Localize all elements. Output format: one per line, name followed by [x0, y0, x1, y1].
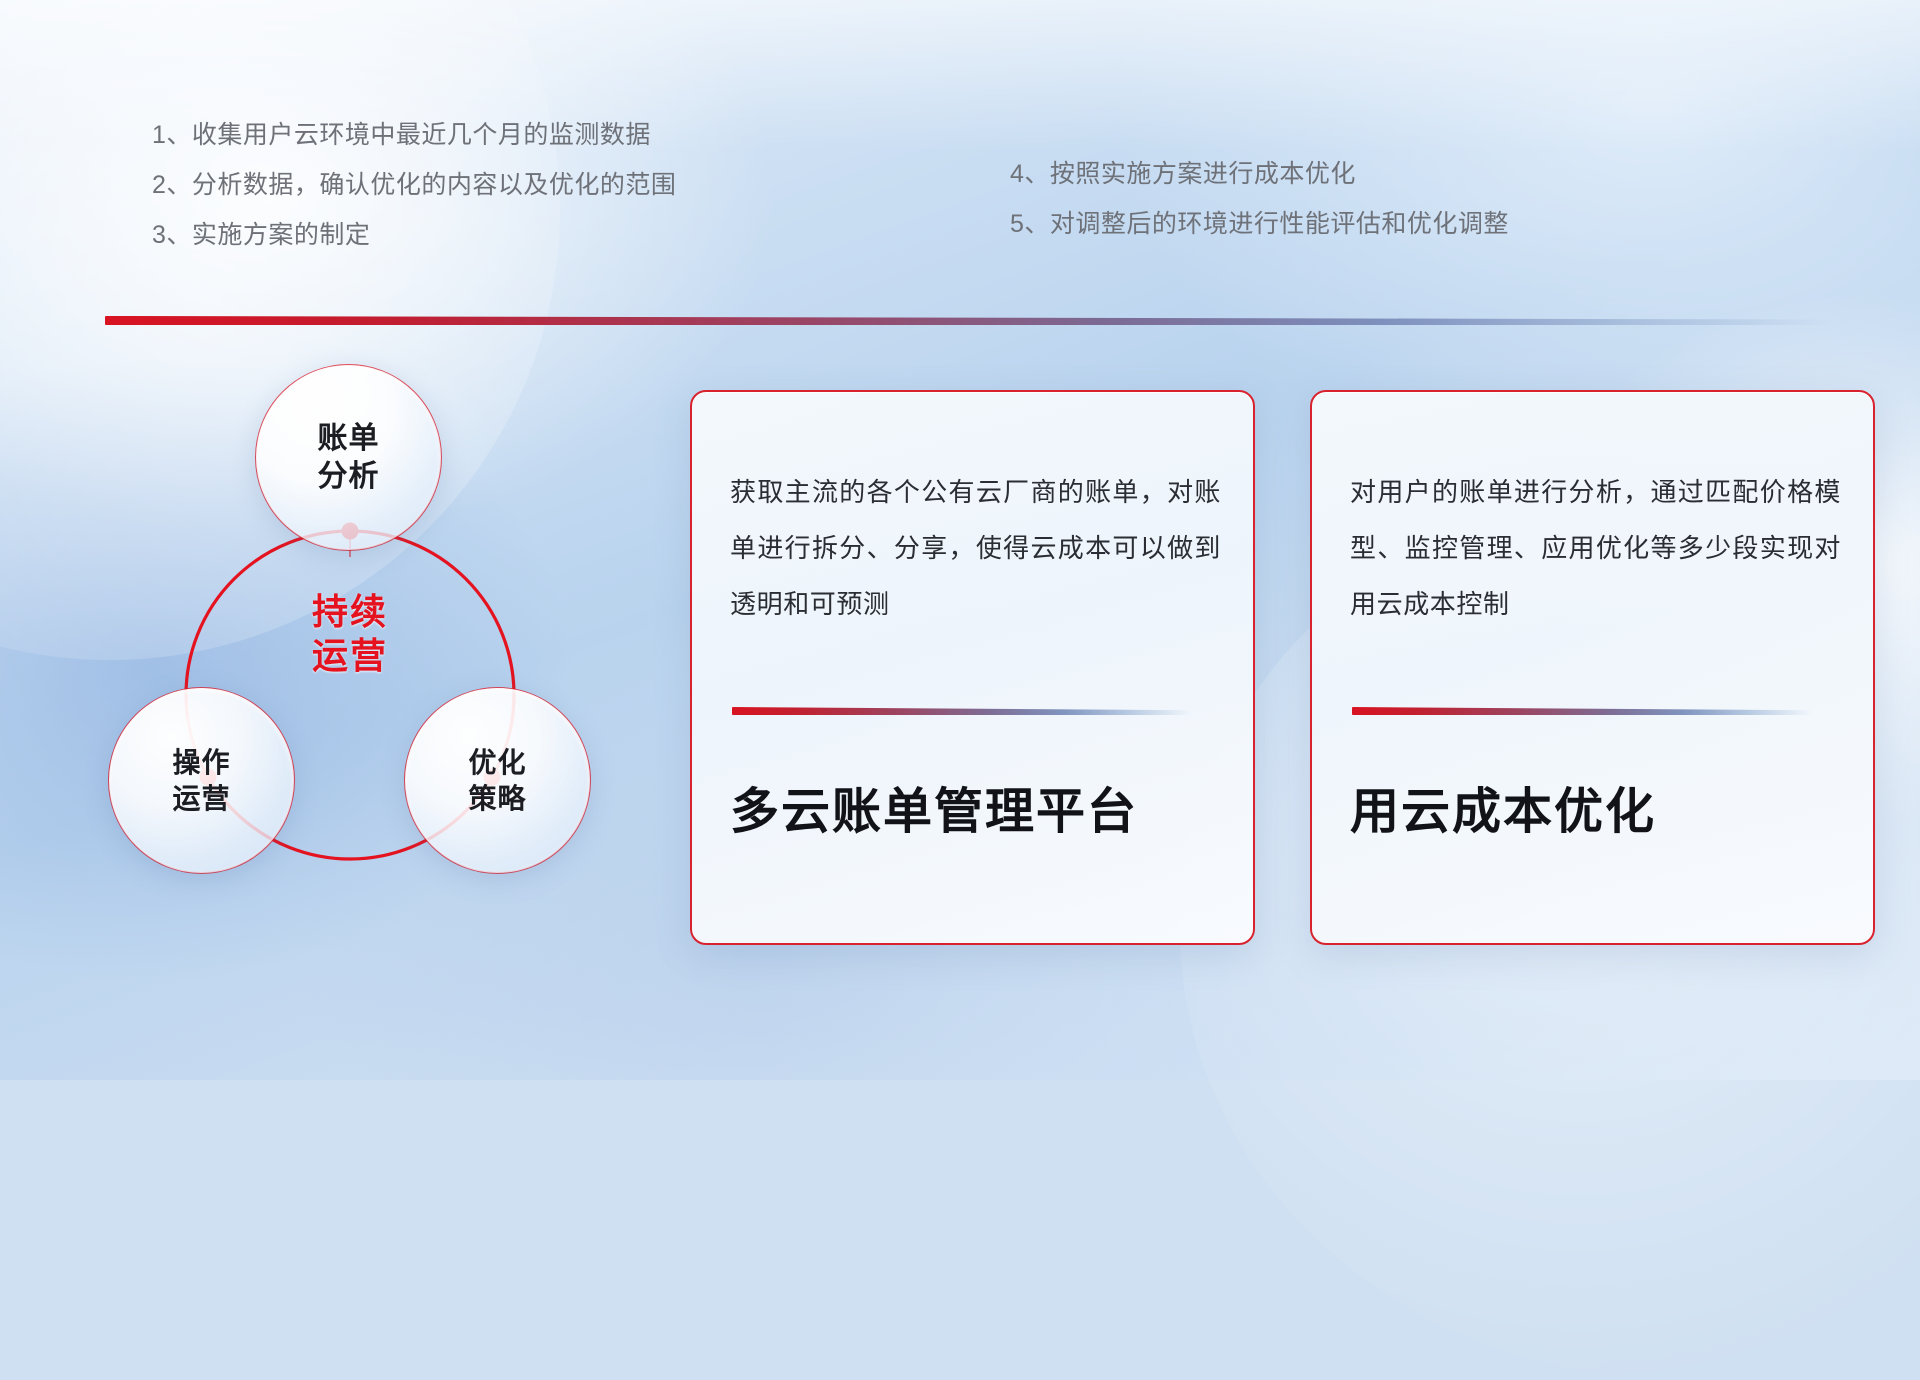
step-item: 2、分析数据，确认优化的内容以及优化的范围	[152, 173, 676, 198]
step-item: 4、按照实施方案进行成本优化	[1010, 162, 1509, 187]
header-divider-rule	[105, 316, 1830, 325]
step-item: 1、收集用户云环境中最近几个月的监测数据	[152, 123, 676, 148]
venn-bubble-operations[interactable]: 操作 运营	[109, 688, 294, 873]
card-divider-rule	[1352, 707, 1812, 715]
venn-bubble-label-line1: 账单	[318, 422, 380, 455]
venn-bubble-label: 优化 策略	[468, 745, 526, 816]
venn-diagram: 账单 分析 操作 运营 优化 策略 持续 运营	[95, 355, 635, 955]
venn-bubble-label: 操作 运营	[172, 745, 230, 816]
venn-center-label-line1: 持续	[270, 590, 430, 634]
card-body-text: 获取主流的各个公有云厂商的账单，对账单进行拆分、分享，使得云成本可以做到透明和可…	[730, 464, 1221, 632]
venn-bubble-label-line2: 运营	[172, 783, 230, 814]
card-cloud-cost-optimization[interactable]: 对用户的账单进行分析，通过匹配价格模型、监控管理、应用优化等多少段实现对用云成本…	[1310, 390, 1875, 945]
venn-bubble-label-line2: 分析	[318, 460, 380, 493]
venn-bubble-optimization-strategy[interactable]: 优化 策略	[405, 688, 590, 873]
card-title: 多云账单管理平台	[730, 772, 1229, 843]
venn-bubble-label: 账单 分析	[318, 420, 380, 496]
card-multi-cloud-billing-platform[interactable]: 获取主流的各个公有云厂商的账单，对账单进行拆分、分享，使得云成本可以做到透明和可…	[690, 390, 1255, 945]
venn-bubble-label-line1: 操作	[172, 747, 230, 778]
step-item: 3、实施方案的制定	[152, 223, 676, 248]
steps-list-right: 4、按照实施方案进行成本优化 5、对调整后的环境进行性能评估和优化调整	[1010, 162, 1509, 262]
venn-center-label: 持续 运营	[270, 590, 430, 678]
venn-center-label-line2: 运营	[270, 634, 430, 678]
step-item: 5、对调整后的环境进行性能评估和优化调整	[1010, 212, 1509, 237]
steps-list-left: 1、收集用户云环境中最近几个月的监测数据 2、分析数据，确认优化的内容以及优化的…	[152, 123, 676, 273]
venn-bubble-label-line1: 优化	[468, 747, 526, 778]
venn-bubble-label-line2: 策略	[468, 783, 526, 814]
venn-bubble-bill-analysis[interactable]: 账单 分析	[256, 365, 441, 550]
card-body-text: 对用户的账单进行分析，通过匹配价格模型、监控管理、应用优化等多少段实现对用云成本…	[1350, 464, 1841, 632]
card-title: 用云成本优化	[1350, 772, 1849, 843]
card-divider-rule	[732, 707, 1192, 715]
